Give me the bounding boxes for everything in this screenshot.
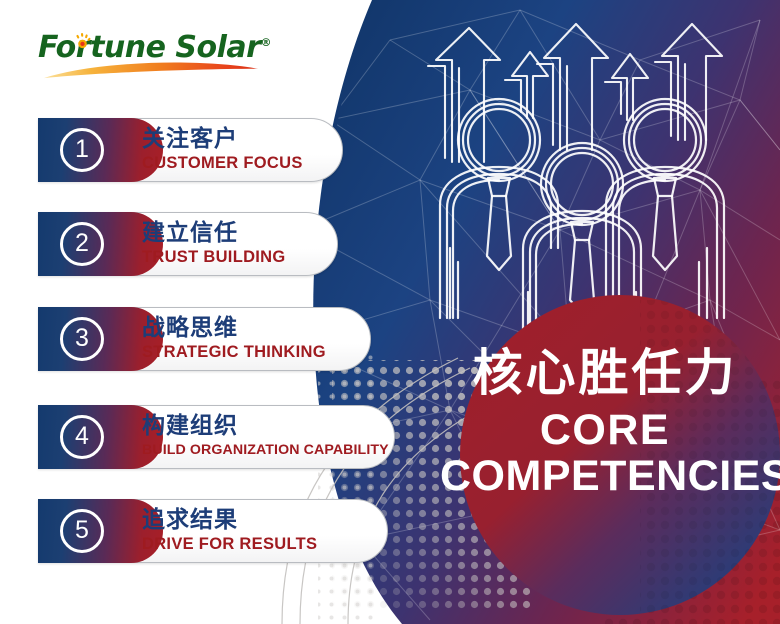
item-label-cn: 追求结果 [142, 507, 317, 533]
swoosh-icon [42, 62, 260, 79]
number-ring-icon: 3 [60, 317, 104, 361]
item-label-cn: 构建组织 [142, 413, 389, 439]
item-label-cn: 建立信任 [142, 220, 286, 246]
brand-logo[interactable]: Fortune Solar® [38, 26, 268, 82]
number-ring-icon: 2 [60, 222, 104, 266]
registered-mark-icon: ® [260, 36, 271, 49]
item-text: 建立信任 TRUST BUILDING [142, 220, 286, 267]
poster-canvas: Fortune Solar® [0, 0, 780, 624]
item-text: 关注客户 CUSTOMER FOCUS [142, 126, 303, 173]
brand-logo-text: Fortune Solar® [38, 26, 268, 65]
item-label-en: DRIVE FOR RESULTS [142, 534, 317, 554]
item-text: 追求结果 DRIVE FOR RESULTS [142, 507, 317, 554]
item-number: 5 [75, 518, 89, 545]
item-number: 2 [75, 231, 89, 258]
number-ring-icon: 1 [60, 128, 104, 172]
number-ring-icon: 4 [60, 415, 104, 459]
item-label-en: STRATEGIC THINKING [142, 342, 326, 362]
item-text: 构建组织 BUILD ORGANIZATION CAPABILITY [142, 413, 389, 460]
item-label-en: TRUST BUILDING [142, 247, 286, 267]
number-ring-icon: 5 [60, 509, 104, 553]
item-number: 3 [75, 326, 89, 353]
item-text: 战略思维 STRATEGIC THINKING [142, 315, 326, 362]
item-label-en: BUILD ORGANIZATION CAPABILITY [142, 440, 389, 460]
item-label-en: CUSTOMER FOCUS [142, 153, 303, 173]
item-label-cn: 关注客户 [142, 126, 303, 152]
item-number: 1 [75, 137, 89, 164]
item-label-cn: 战略思维 [142, 315, 326, 341]
item-number: 4 [75, 424, 89, 451]
